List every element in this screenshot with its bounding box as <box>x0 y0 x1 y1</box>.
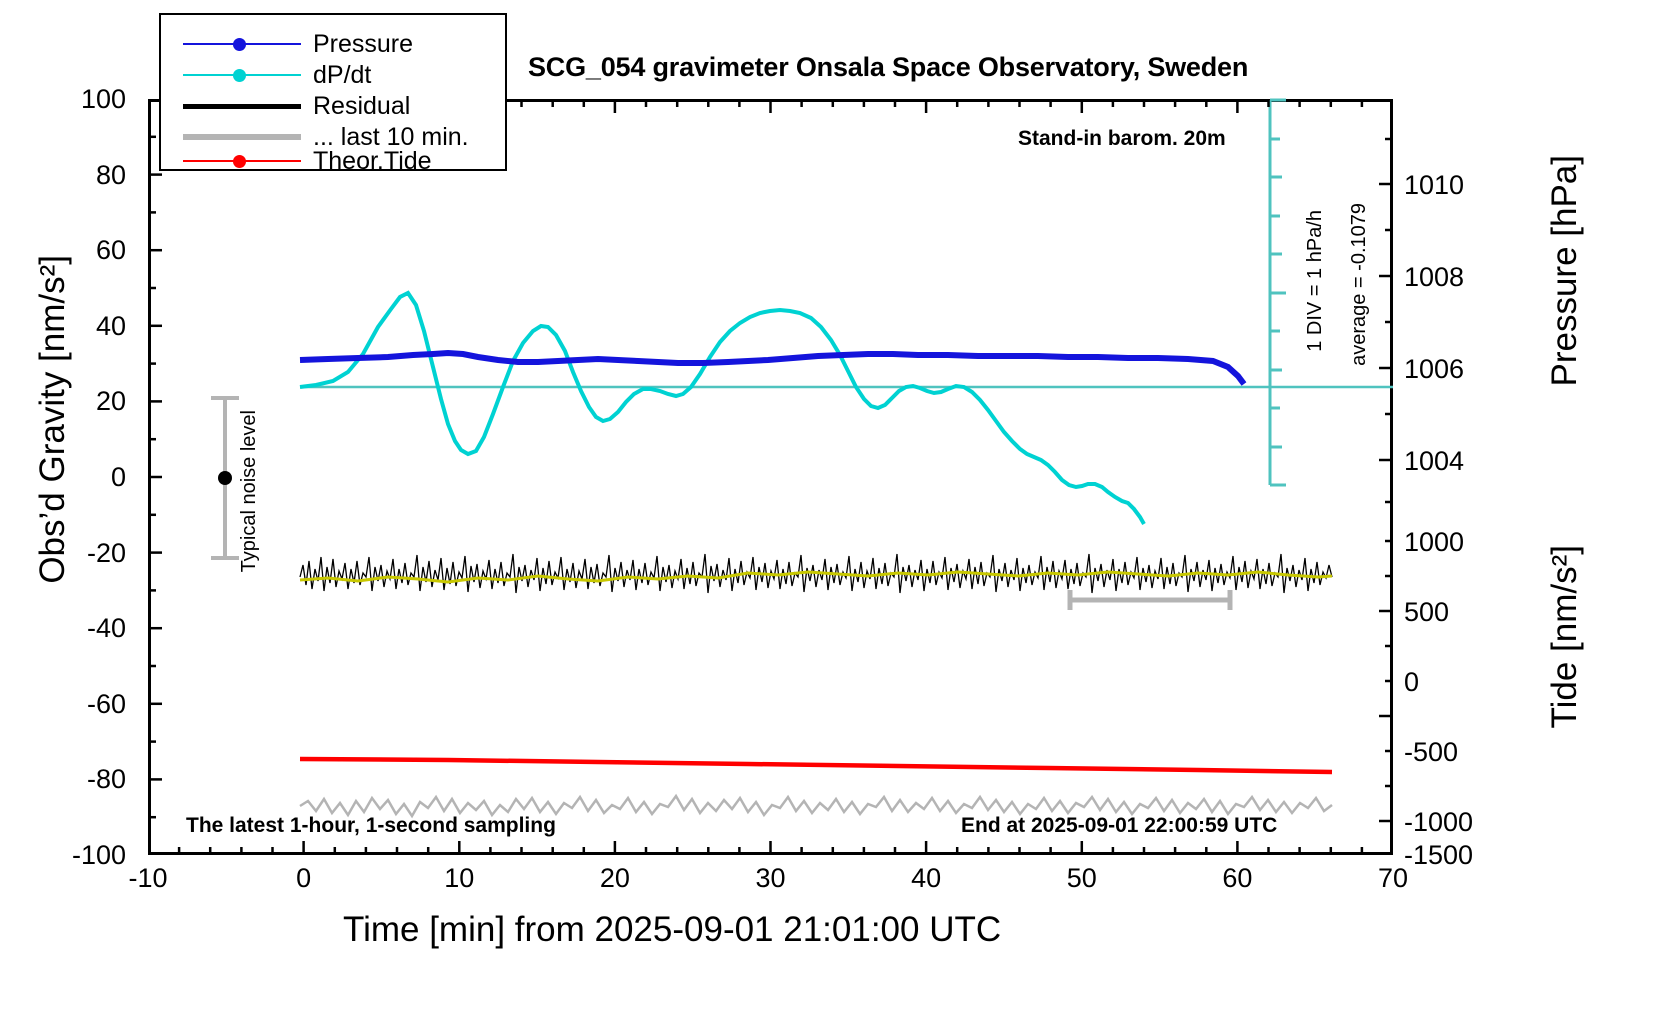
tide-tick-label: 500 <box>1404 597 1514 628</box>
legend-item-residual: Residual <box>161 91 505 121</box>
legend-swatch-dot <box>233 69 246 82</box>
tide-tick-label: -1500 <box>1404 840 1514 871</box>
x-tick-label: 20 <box>570 863 660 894</box>
chart-curves <box>148 99 1393 855</box>
pressure-axis-title: Pressure [hPa] <box>1545 155 1660 195</box>
pressure-tick-label: 1006 <box>1404 354 1514 385</box>
x-axis-title: Time [min] from 2025-09-01 21:01:00 UTC <box>343 910 1001 950</box>
y-tick-label: -40 <box>34 613 126 644</box>
y-tick-label: -100 <box>34 840 126 871</box>
tide-axis-title: Tide [nm/s²] <box>1545 545 1660 585</box>
x-tick-label: 50 <box>1037 863 1127 894</box>
chart-title: SCG_054 gravimeter Onsala Space Observat… <box>528 52 1248 83</box>
standin-barometer-annotation: Stand-in barom. 20m <box>1018 127 1226 151</box>
legend-swatch-line <box>183 104 301 109</box>
tide-tick-label: 0 <box>1404 667 1514 698</box>
legend: Pressure dP/dt Residual ... last 10 min.… <box>159 13 507 171</box>
footer-right-annotation: End at 2025-09-01 22:00:59 UTC <box>961 814 1277 838</box>
x-tick-label: 40 <box>881 863 971 894</box>
footer-left-annotation: The latest 1-hour, 1-second sampling <box>186 814 556 838</box>
legend-swatch-dot <box>233 155 246 168</box>
tide-tick-label: -1000 <box>1404 807 1514 838</box>
pressure-tick-label: 1004 <box>1404 446 1514 477</box>
legend-label: Theor.Tide <box>313 146 432 176</box>
x-tick-label: 60 <box>1192 863 1282 894</box>
legend-item-dpdt: dP/dt <box>161 60 505 90</box>
legend-item-pressure: Pressure <box>161 29 505 59</box>
y-axis-title: Obs’d Gravity [nm/s²] <box>33 255 362 295</box>
pressure-tick-label: 1010 <box>1404 170 1514 201</box>
last-10-min-marker <box>1060 585 1240 615</box>
tide-tick-label: 1000 <box>1404 527 1514 558</box>
y-tick-label: 100 <box>34 84 126 115</box>
legend-swatch-dot <box>233 38 246 51</box>
y-tick-label: -80 <box>34 764 126 795</box>
noise-level-label: Typical noise level <box>238 410 400 433</box>
tide-tick-label: -500 <box>1404 737 1514 768</box>
x-tick-label: 0 <box>259 863 349 894</box>
x-tick-label: 30 <box>726 863 816 894</box>
legend-label: dP/dt <box>313 60 371 90</box>
pressure-tick-label: 1008 <box>1404 262 1514 293</box>
y-tick-label: -60 <box>34 689 126 720</box>
legend-label: Pressure <box>313 29 413 59</box>
legend-label: Residual <box>313 91 410 121</box>
scalebar-average-label: average = -0.1079 <box>1348 203 1511 226</box>
dpdt-scale-bar <box>1250 95 1290 495</box>
x-tick-label: 10 <box>414 863 504 894</box>
legend-item-theortide: Theor.Tide <box>161 138 505 168</box>
y-tick-label: 80 <box>34 160 126 191</box>
